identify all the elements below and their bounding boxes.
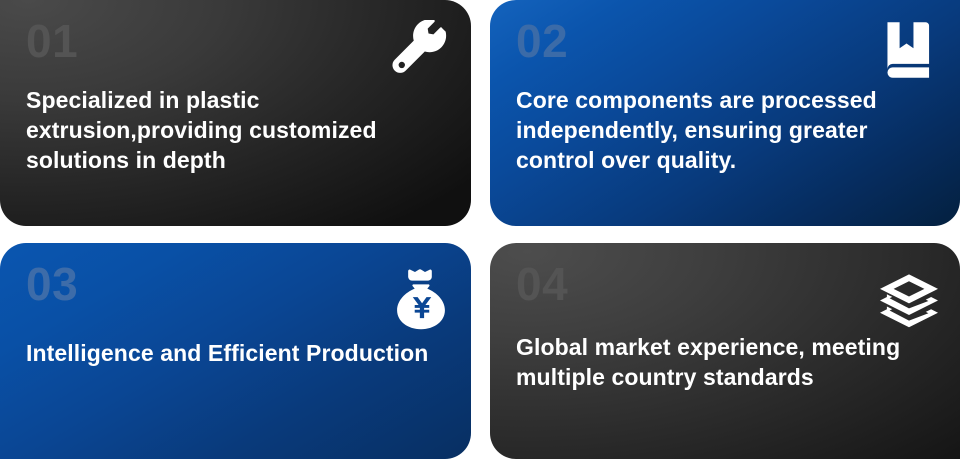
feature-card-01[interactable]: 01 Specialized in plastic extrusion,prov… bbox=[0, 0, 471, 226]
card-title-03: Intelligence and Efficient Production bbox=[26, 339, 447, 369]
book-bookmark-icon bbox=[884, 22, 936, 78]
feature-card-grid: 01 Specialized in plastic extrusion,prov… bbox=[0, 0, 960, 459]
card-number-04: 04 bbox=[516, 261, 568, 307]
card-title-02: Core components are processed independen… bbox=[516, 86, 936, 176]
card-number-02: 02 bbox=[516, 18, 568, 64]
card-title-04: Global market experience, meeting multip… bbox=[516, 333, 936, 393]
money-bag-yen-icon bbox=[393, 269, 449, 331]
feature-card-02[interactable]: 02 Core components are processed indepen… bbox=[490, 0, 960, 226]
feature-card-03[interactable]: 03 Intelligence and Efficient Production bbox=[0, 243, 471, 459]
card-number-03: 03 bbox=[26, 261, 78, 307]
feature-card-04[interactable]: 04 Global market experience, meeting mul… bbox=[490, 243, 960, 459]
card-number-01: 01 bbox=[26, 18, 78, 64]
wrench-icon bbox=[391, 20, 449, 78]
card-title-01: Specialized in plastic extrusion,providi… bbox=[26, 86, 447, 176]
layers-stack-icon bbox=[878, 273, 940, 331]
